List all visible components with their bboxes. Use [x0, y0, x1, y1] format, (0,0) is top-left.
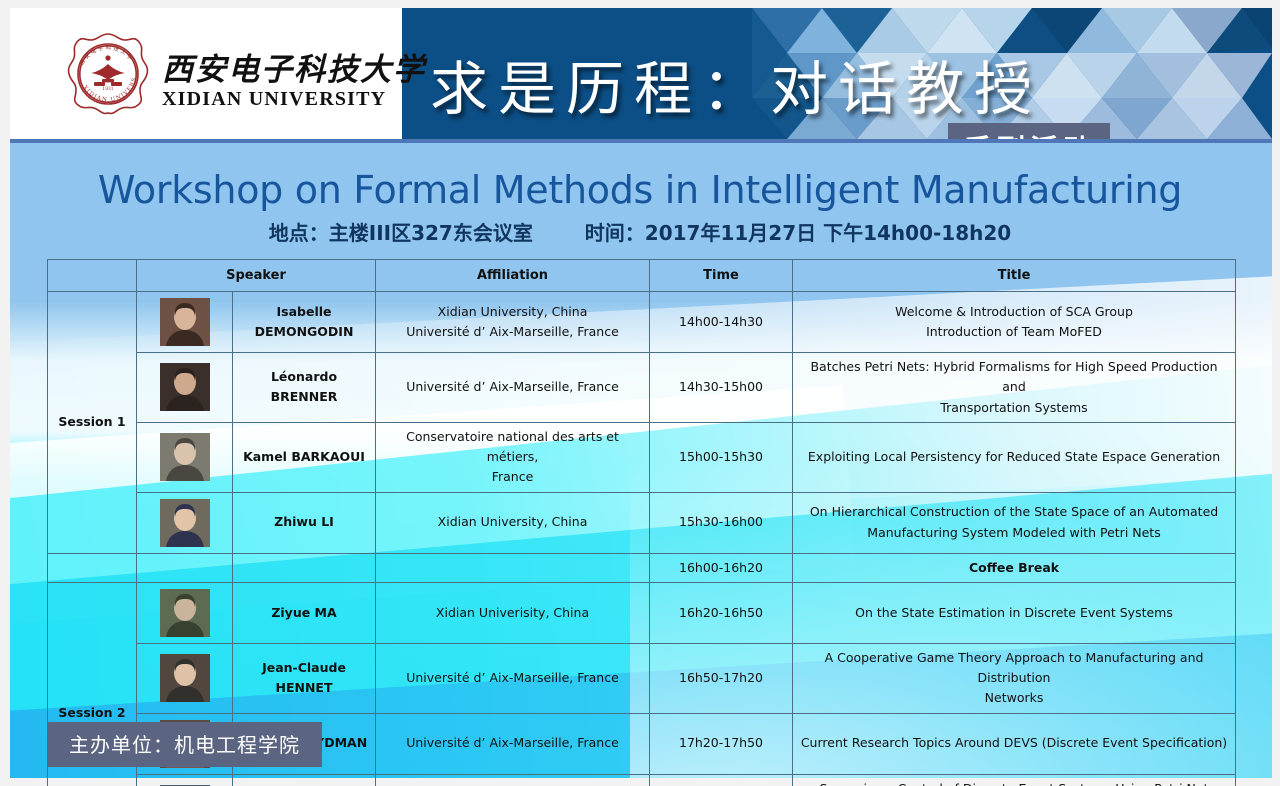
title-cell: A Cooperative Game Theory Approach to Ma… [793, 643, 1236, 713]
col-affiliation: Affiliation [376, 260, 650, 292]
affiliation-cell [376, 553, 650, 582]
table-row: Alessandro GIUAUniversity of Cagliari, I… [48, 774, 1236, 786]
speaker-name-line1: Isabelle [277, 304, 332, 319]
event-location: 地点：主楼III区327东会议室 [269, 221, 533, 245]
photo-cell [137, 643, 233, 713]
table-row: Session 2Ziyue MAXidian Univerisity, Chi… [48, 582, 1236, 643]
photo-cell [137, 774, 233, 786]
title-cell: Supervisory Control of Discrete Event Sy… [793, 774, 1236, 786]
title-line2: Transportation Systems [940, 400, 1087, 415]
photo-jean-claude-hennet [160, 654, 210, 702]
table-row: Zhiwu LIXidian University, China15h30-16… [48, 492, 1236, 553]
time-cell: 16h20-16h50 [650, 582, 793, 643]
affiliation-line1: Xidian Univerisity, China [436, 605, 589, 620]
affiliation-line1: Université d’ Aix-Marseille, France [406, 670, 619, 685]
table-row: Jean-Claude HENNETUniversité d’ Aix-Mars… [48, 643, 1236, 713]
speaker-name-line1: Kamel BARKAOUI [243, 449, 365, 464]
table-row: Léonardo BRENNERUniversité d’ Aix-Marsei… [48, 353, 1236, 423]
speaker-name: Ziyue MA [233, 582, 376, 643]
affiliation-line1: Xidian University, China [438, 304, 588, 319]
affiliation-cell: Université d’ Aix-Marseille, France [376, 713, 650, 774]
title-line1: Batches Petri Nets: Hybrid Formalisms fo… [810, 359, 1217, 394]
schedule-table-body: Session 1IsabelleDEMONGODINXidian Univer… [48, 292, 1236, 786]
title-cell: Current Research Topics Around DEVS (Dis… [793, 713, 1236, 774]
col-speaker: Speaker [137, 260, 376, 292]
photo-cell [137, 492, 233, 553]
table-row: Kamel BARKAOUIConservatoire national des… [48, 422, 1236, 492]
speaker-name: Jean-Claude HENNET [233, 643, 376, 713]
title-line1: Supervisory Control of Discrete Event Sy… [820, 781, 1209, 786]
title-line1: A Cooperative Game Theory Approach to Ma… [825, 650, 1204, 685]
university-seal-icon: 1931 XIDIAN UNIVERSITY 西安电子科技大学 [66, 32, 150, 116]
photo-isabelle-demongodin [160, 298, 210, 346]
affiliation-cell: Université d’ Aix-Marseille, France [376, 643, 650, 713]
table-row: 16h00-16h20Coffee Break [48, 553, 1236, 582]
speaker-name-line1: Zhiwu LI [274, 514, 334, 529]
banner-title-cn: 求是历程：对话教授 [430, 42, 1042, 126]
title-cell: On Hierarchical Construction of the Stat… [793, 492, 1236, 553]
affiliation-cell: Conservatoire national des arts et métie… [376, 422, 650, 492]
schedule-table: Speaker Affiliation Time Title Session 1… [47, 259, 1236, 786]
presentation-slide: 1931 XIDIAN UNIVERSITY 西安电子科技大学 西安电子科技大学… [0, 0, 1280, 786]
title-line1: Welcome & Introduction of SCA Group [895, 304, 1133, 319]
affiliation-line1: Xidian University, China [438, 514, 588, 529]
affiliation-cell: Xidian Univerisity, China [376, 582, 650, 643]
col-session [48, 260, 137, 292]
photo-cell [137, 422, 233, 492]
title-line2: Introduction of Team MoFED [926, 324, 1102, 339]
affiliation-cell: Xidian University, China [376, 492, 650, 553]
title-line1: On Hierarchical Construction of the Stat… [810, 504, 1218, 519]
speaker-name: Alessandro GIUA [233, 774, 376, 786]
session-label: Session 1 [48, 292, 137, 554]
title-line1: Current Research Topics Around DEVS (Dis… [801, 735, 1227, 750]
speaker-name: IsabelleDEMONGODIN [233, 292, 376, 353]
speaker-name: Léonardo BRENNER [233, 353, 376, 423]
session-label-empty [48, 553, 137, 582]
photo-cell-empty [137, 553, 233, 582]
speaker-name-line1: Jean-Claude HENNET [262, 660, 346, 695]
time-cell: 16h00-16h20 [650, 553, 793, 582]
university-name-cn: 西安电子科技大学 [162, 44, 426, 89]
speaker-name-line2: DEMONGODIN [255, 324, 354, 339]
affiliation-line1: Université d’ Aix-Marseille, France [406, 379, 619, 394]
time-cell: 17h20-17h50 [650, 713, 793, 774]
title-line2: Networks [985, 690, 1044, 705]
title-cell: Batches Petri Nets: Hybrid Formalisms fo… [793, 353, 1236, 423]
time-cell: 16h50-17h20 [650, 643, 793, 713]
university-logo-box: 1931 XIDIAN UNIVERSITY 西安电子科技大学 西安电子科技大学… [10, 8, 402, 139]
event-meta: 地点：主楼III区327东会议室 时间：2017年11月27日 下午14h00-… [0, 217, 1280, 246]
page-title: Workshop on Formal Methods in Intelligen… [0, 168, 1280, 212]
affiliation-cell: University of Cagliari, Italy [376, 774, 650, 786]
time-cell: 14h00-14h30 [650, 292, 793, 353]
table-header-row: Speaker Affiliation Time Title [48, 260, 1236, 292]
header-banner: 1931 XIDIAN UNIVERSITY 西安电子科技大学 西安电子科技大学… [10, 8, 1272, 139]
title-cell: Welcome & Introduction of SCA GroupIntro… [793, 292, 1236, 353]
speaker-name: Zhiwu LI [233, 492, 376, 553]
university-name-en: XIDIAN UNIVERSITY [162, 88, 386, 111]
affiliation-cell: Université d’ Aix-Marseille, France [376, 353, 650, 423]
affiliation-cell: Xidian University, ChinaUniversité d’ Ai… [376, 292, 650, 353]
photo-ziyue-ma [160, 589, 210, 637]
photo-cell [137, 353, 233, 423]
speaker-name: Kamel BARKAOUI [233, 422, 376, 492]
title-line2: Manufacturing System Modeled with Petri … [867, 525, 1160, 540]
banner-divider [10, 139, 1272, 143]
banner-subtitle-badge: 系列活动 [948, 123, 1110, 139]
photo-zhiwu-li [160, 499, 210, 547]
col-title: Title [793, 260, 1236, 292]
affiliation-line2: Université d’ Aix-Marseille, France [406, 324, 619, 339]
svg-text:西安电子科技大学: 西安电子科技大学 [78, 43, 136, 67]
time-cell: 15h00-15h30 [650, 422, 793, 492]
svg-text:1931: 1931 [102, 87, 113, 92]
photo-leonardo-brenner [160, 363, 210, 411]
title-cell: On the State Estimation in Discrete Even… [793, 582, 1236, 643]
time-cell: 15h30-16h00 [650, 492, 793, 553]
title-line1: Coffee Break [969, 560, 1059, 575]
organizer-badge: 主办单位：机电工程学院 [47, 722, 322, 767]
title-line1: On the State Estimation in Discrete Even… [855, 605, 1173, 620]
title-cell: Coffee Break [793, 553, 1236, 582]
photo-cell [137, 292, 233, 353]
speaker-name-line1: Léonardo BRENNER [271, 369, 338, 404]
affiliation-line2: France [492, 469, 534, 484]
speaker-name-line1: Ziyue MA [271, 605, 336, 620]
col-time: Time [650, 260, 793, 292]
speaker-name [233, 553, 376, 582]
table-row: Session 1IsabelleDEMONGODINXidian Univer… [48, 292, 1236, 353]
title-cell: Exploiting Local Persistency for Reduced… [793, 422, 1236, 492]
title-line1: Exploiting Local Persistency for Reduced… [808, 449, 1220, 464]
time-cell: 17h50-18h20 [650, 774, 793, 786]
event-time: 时间：2017年11月27日 下午14h00-18h20 [585, 221, 1011, 245]
affiliation-line1: Université d’ Aix-Marseille, France [406, 735, 619, 750]
photo-kamel-barkaoui [160, 433, 210, 481]
photo-cell [137, 582, 233, 643]
affiliation-line1: Conservatoire national des arts et métie… [406, 429, 619, 464]
time-cell: 14h30-15h00 [650, 353, 793, 423]
